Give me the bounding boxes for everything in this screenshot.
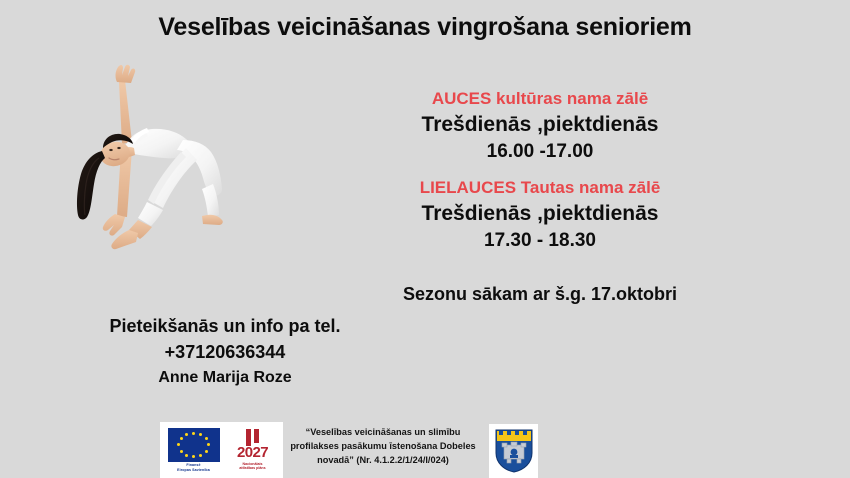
project-caption: “Veselības veicināšanas un slimību profi…	[283, 426, 483, 467]
project-caption-line-1: “Veselības veicināšanas un slimību	[283, 426, 483, 440]
coat-of-arms-box	[489, 424, 538, 478]
nap-year-label: 2027	[237, 445, 268, 460]
contact-block: Pieteikšanās un info pa tel. +3712063634…	[70, 313, 380, 390]
eu-flag-group: Finansē Eiropas Savienība	[165, 428, 223, 472]
venue-lielauce-days: Trešdienās ,piektdienās	[330, 200, 750, 227]
dobele-municipality-coat-of-arms-icon	[495, 429, 533, 473]
yoga-photo	[55, 48, 235, 270]
venue-auce-heading: AUCES kultūras nama zālē	[330, 88, 750, 111]
contact-person-name: Anne Marija Roze	[70, 366, 380, 390]
venue-auce: AUCES kultūras nama zālē Trešdienās ,pie…	[330, 88, 750, 166]
venue-auce-time: 16.00 -17.00	[330, 138, 750, 166]
nap-caption: Nacionālais attīstības plāns	[239, 462, 265, 471]
nap-caption-line2: attīstības plāns	[239, 466, 265, 470]
venue-lielauce-time: 17.30 - 18.30	[330, 227, 750, 255]
european-union-flag-icon	[168, 428, 220, 462]
venue-auce-days: Trešdienās ,piektdienās	[330, 111, 750, 138]
page-title: Veselības veicināšanas vingrošana senior…	[0, 13, 850, 42]
funding-logo-box: Finansē Eiropas Savienība 2027 Nacionāla…	[160, 422, 283, 478]
eu-caption-line2: Eiropas Savienība	[177, 468, 210, 472]
poster-root: Veselības veicināšanas vingrošana senior…	[0, 0, 850, 478]
venue-lielauce: LIELAUCES Tautas nama zālē Trešdienās ,p…	[330, 177, 750, 255]
woman-yoga-triangle-pose-icon	[55, 48, 235, 270]
contact-phone: +37120636344	[70, 339, 380, 366]
season-start-text: Sezonu sākam ar š.g. 17.oktobri	[330, 284, 750, 305]
footer-bar: Finansē Eiropas Savienība 2027 Nacionāla…	[0, 420, 850, 478]
national-development-plan-logo: 2027 Nacionālais attīstības plāns	[227, 429, 279, 470]
project-caption-line-2: profilakses pasākumu īstenošana Dobeles	[283, 440, 483, 454]
project-caption-line-3: novadā” (Nr. 4.1.2.2/1/24/I/024)	[283, 454, 483, 468]
eu-flag-caption: Finansē Eiropas Savienība	[177, 463, 210, 472]
venue-lielauce-heading: LIELAUCES Tautas nama zālē	[330, 177, 750, 200]
contact-intro-label: Pieteikšanās un info pa tel.	[70, 313, 380, 339]
schedule-block: AUCES kultūras nama zālē Trešdienās ,pie…	[330, 88, 750, 255]
